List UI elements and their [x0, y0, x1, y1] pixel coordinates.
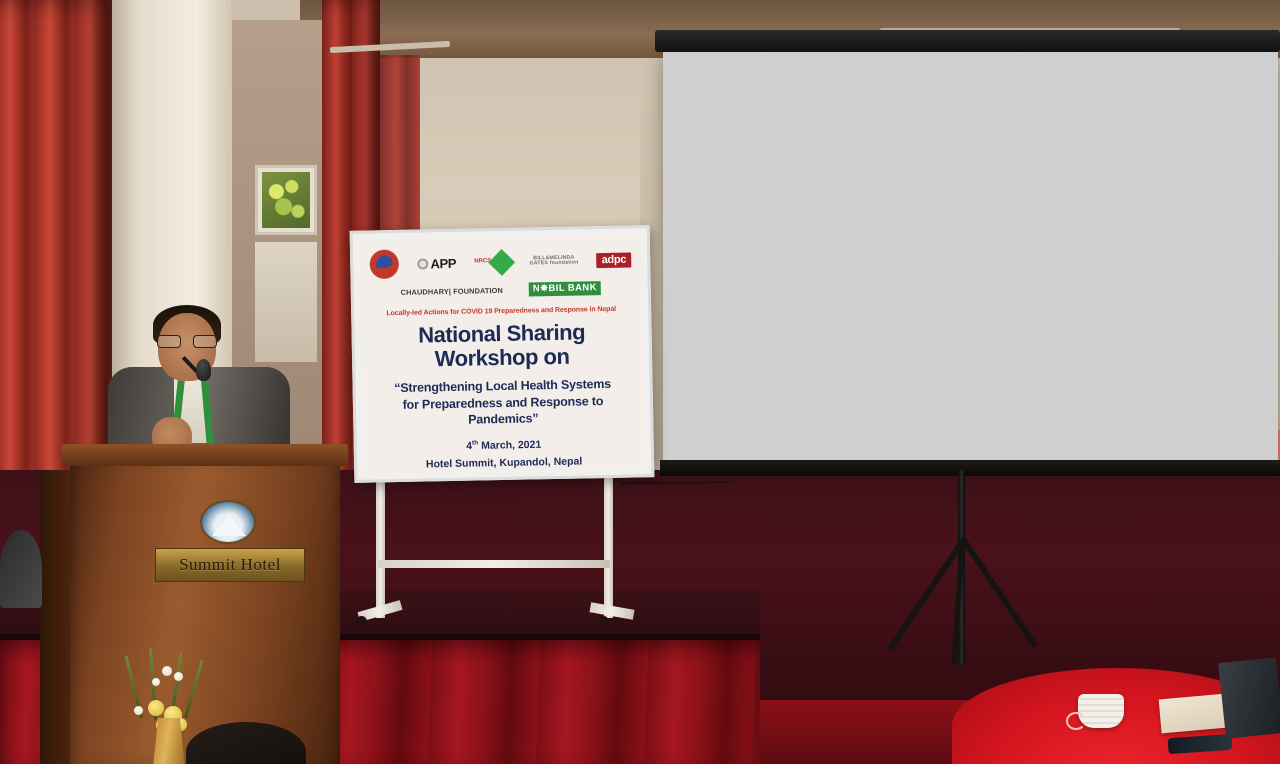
nrcs-logo: NRCS	[474, 252, 511, 272]
microphone-icon	[196, 359, 211, 381]
banner-subtitle: “Strengthening Local Health Systems for …	[369, 376, 636, 431]
banner-stand-crossbar	[378, 560, 610, 568]
banner-title: National Sharing Workshop on	[368, 319, 635, 372]
banner-venue: Hotel Summit, Kupandol, Nepal	[371, 455, 637, 472]
banner-tagline: Locally-led Actions for COVID 19 Prepare…	[368, 305, 634, 317]
projector-screen: Experience of Health Emergency Preparedn…	[663, 50, 1278, 465]
event-banner: APP NRCS BILL&MELINDA GATES foundation a…	[359, 234, 645, 473]
podium-plaque-text: Summit Hotel	[179, 555, 281, 575]
banner-logo-row-2: CHAUDHARY| FOUNDATION N✸BIL BANK	[368, 280, 634, 299]
banner-subtitle-line-2: for Preparedness and Response to Pandemi…	[370, 392, 637, 430]
eyeglasses-icon	[157, 335, 217, 348]
podium-plaque: Summit Hotel	[155, 548, 305, 582]
foreground-chair	[0, 530, 42, 608]
adpc-logo: adpc	[597, 252, 632, 268]
nepal-government-emblem-icon	[369, 248, 400, 281]
projector-screen-bottom-bar	[660, 460, 1280, 476]
window-foliage	[262, 172, 310, 228]
gates-logo-line-2: GATES foundation	[530, 261, 579, 267]
banner-stand-leg	[376, 470, 385, 618]
projector-screen-top-bar	[655, 30, 1280, 52]
banner-logo-row-1: APP NRCS BILL&MELINDA GATES foundation a…	[367, 243, 634, 280]
nabil-bank-logo: N✸BIL BANK	[529, 281, 601, 296]
banner-date-rest: March, 2021	[478, 439, 541, 452]
mountain-logo-icon	[200, 500, 256, 544]
podium-top	[62, 444, 348, 466]
event-banner-frame: APP NRCS BILL&MELINDA GATES foundation a…	[350, 225, 655, 483]
face-mask-earloop	[1066, 712, 1086, 730]
banner-stand-wheel	[356, 616, 367, 627]
banner-stand-wheel	[598, 616, 609, 627]
banner-stand-leg	[604, 470, 613, 618]
banner-date: 4th March, 2021	[371, 436, 637, 454]
gates-foundation-logo: BILL&MELINDA GATES foundation	[529, 255, 578, 267]
laptop	[1218, 657, 1280, 739]
conference-hall-photo: Experience of Health Emergency Preparedn…	[0, 0, 1280, 764]
app-ring-icon	[417, 258, 428, 269]
nrcs-diamond-icon	[488, 249, 515, 276]
chaudhary-foundation-logo: CHAUDHARY| FOUNDATION	[401, 285, 503, 296]
window-frame	[255, 165, 317, 235]
app-logo: APP	[417, 255, 456, 271]
app-logo-label: APP	[430, 255, 456, 270]
